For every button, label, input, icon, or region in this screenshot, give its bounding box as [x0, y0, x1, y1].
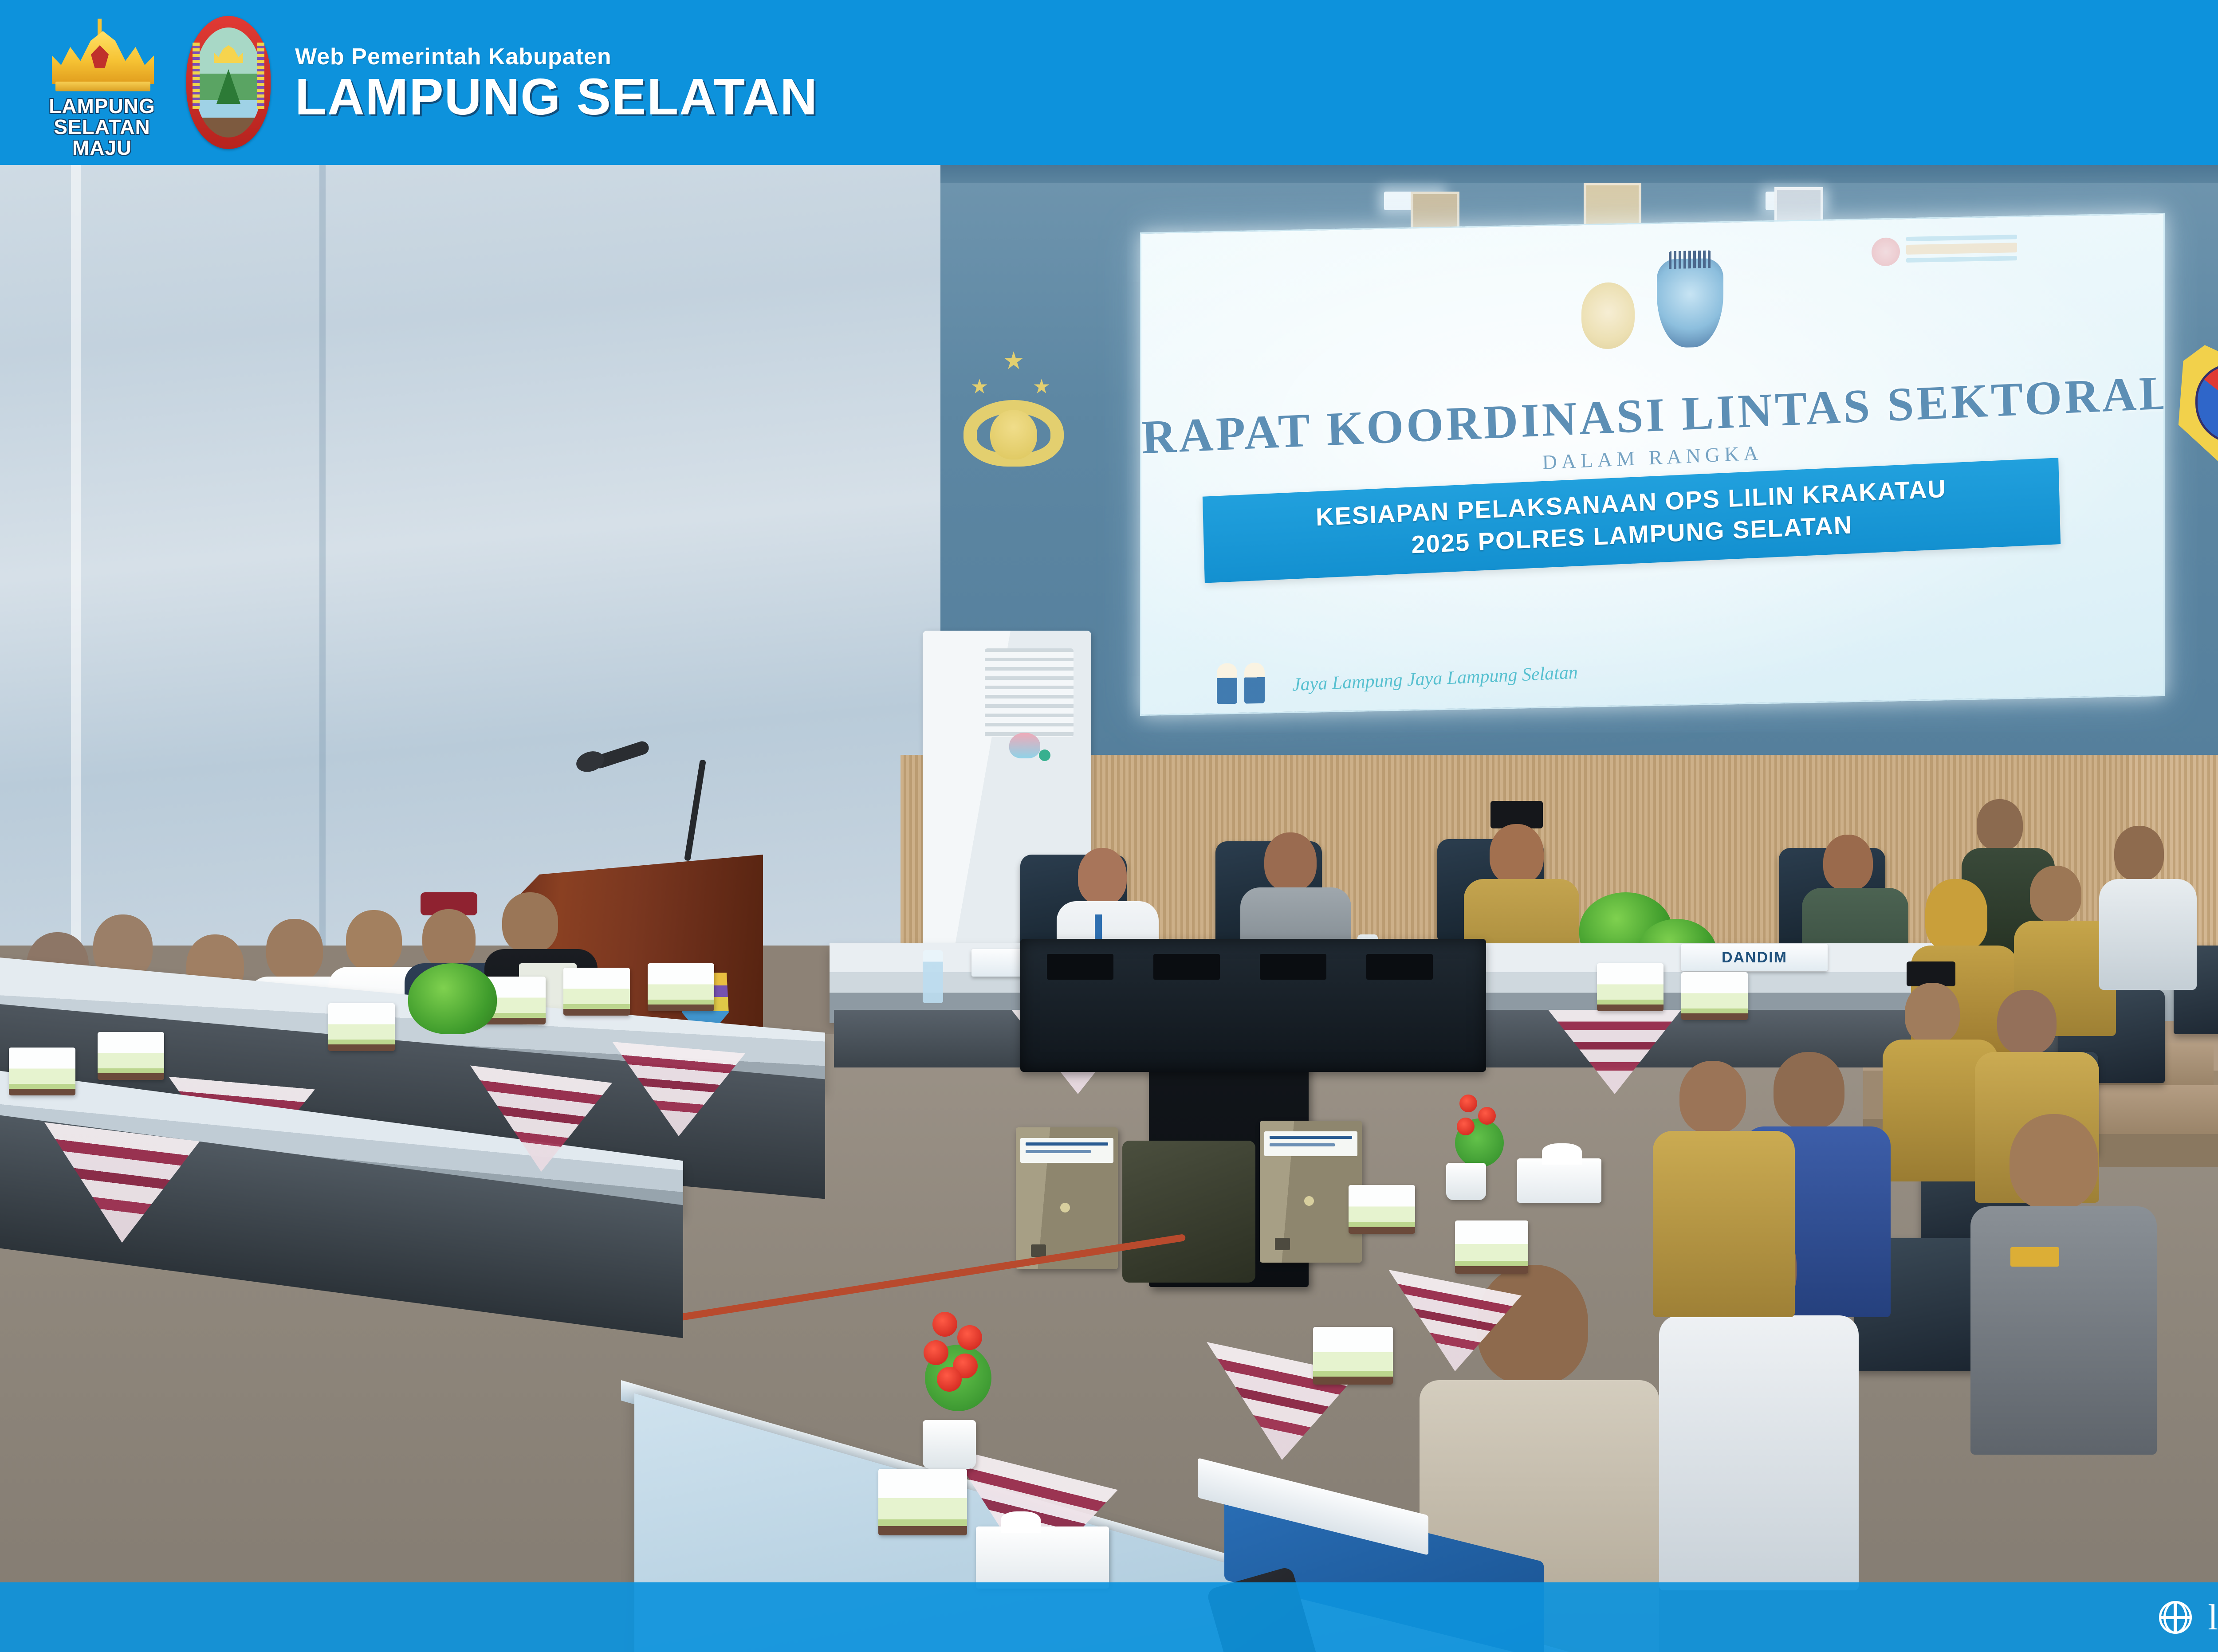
mascot-figure-icon — [1244, 663, 1265, 704]
flower-pot — [1446, 1163, 1486, 1200]
screen-mascots — [1217, 663, 1265, 704]
crown-band-icon — [55, 82, 150, 91]
projection-screen: RAPAT KOORDINASI LINTAS SEKTORAL DALAM R… — [1140, 213, 2165, 716]
tissue-box — [1597, 963, 1663, 1011]
globe-icon — [2159, 1601, 2192, 1634]
screen-logo-gold-icon — [1581, 282, 1635, 349]
news-photo: RAPAT KOORDINASI LINTAS SEKTORAL DALAM R… — [0, 165, 2218, 1652]
site-url[interactable]: lampungselatankab.go.id — [2208, 1597, 2218, 1638]
screen-logos — [1581, 258, 1723, 349]
water-bottle — [923, 950, 943, 1003]
crown-logo-line3: MAJU — [72, 136, 132, 159]
tissue-box — [1681, 972, 1748, 1020]
crown-logo-text: LAMPUNG SELATAN MAJU — [42, 96, 162, 158]
site-header: LAMPUNG SELATAN MAJU Web Pemerintah Kabu… — [0, 0, 2218, 165]
tissue-box-white — [976, 1526, 1109, 1589]
rose-bouquet — [901, 1300, 1016, 1416]
screen-logo-police-icon — [1657, 258, 1723, 348]
tissue-box — [1313, 1327, 1393, 1385]
tissue-box — [648, 963, 714, 1011]
crown-logo-line2: SELATAN — [54, 115, 150, 138]
wall-marble-left — [0, 165, 940, 946]
lampung-selatan-maju-logo: LAMPUNG SELATAN MAJU — [42, 16, 162, 149]
site-title: LAMPUNG SELATAN — [295, 73, 818, 121]
equipment-bag — [1122, 1141, 1255, 1283]
flower-pot — [923, 1420, 976, 1469]
potted-plant — [408, 963, 497, 1034]
corner-logo-text — [1906, 235, 2017, 266]
nameplate: DANDIM — [1681, 944, 1828, 971]
tissue-box — [328, 1003, 395, 1051]
screen-corner-logo — [1872, 235, 2017, 267]
monitor-panel — [1020, 939, 1486, 1072]
tissue-box — [1455, 1220, 1528, 1274]
tissue-box — [9, 1048, 75, 1095]
tissue-box — [98, 1032, 164, 1080]
site-brand: Web Pemerintah Kabupaten LAMPUNG SELATAN — [295, 43, 818, 121]
crown-logo-line1: LAMPUNG — [49, 94, 155, 118]
site-subtitle: Web Pemerintah Kabupaten — [295, 43, 818, 70]
tissue-box-white — [1517, 1158, 1601, 1203]
corner-logo-mark-icon — [1872, 237, 1900, 266]
rose-bouquet — [1437, 1087, 1522, 1172]
site-footer: lampungselatankab.go.id — [0, 1582, 2218, 1652]
rank-insignia — [2010, 1247, 2059, 1267]
tissue-box — [878, 1469, 967, 1535]
tissue-box — [1349, 1185, 1415, 1234]
polri-emblem-icon — [958, 351, 1069, 467]
portable-speaker — [1260, 1121, 1362, 1263]
tissue-box — [563, 968, 630, 1016]
mascot-figure-icon — [1217, 663, 1237, 704]
regency-seal-icon — [186, 16, 271, 149]
page-root: RAPAT KOORDINASI LINTAS SEKTORAL DALAM R… — [0, 0, 2218, 1652]
